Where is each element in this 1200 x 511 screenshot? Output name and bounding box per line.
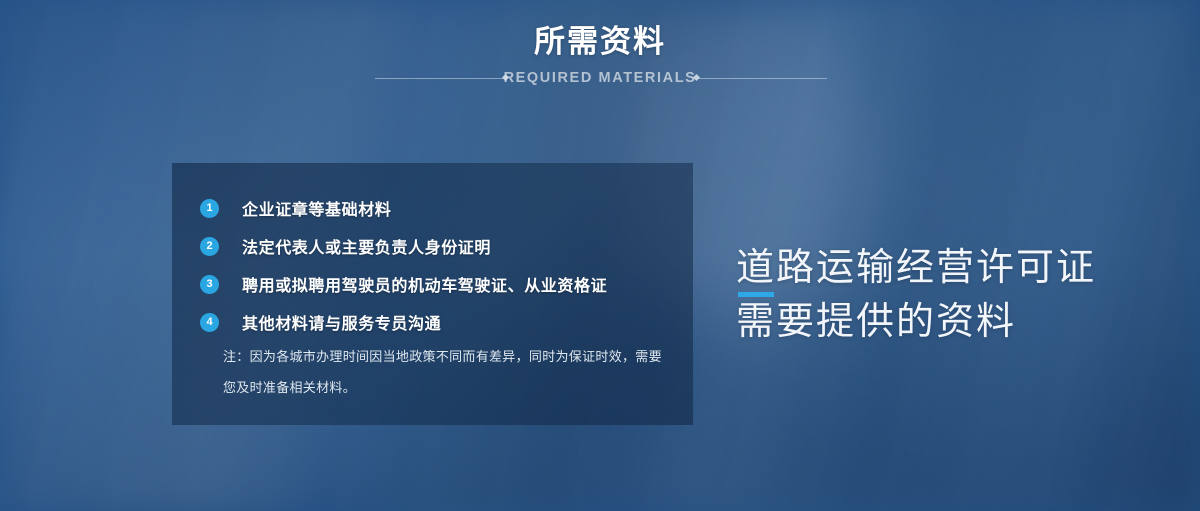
list-item-number-badge: 3 bbox=[200, 275, 219, 294]
service-headline: 道路运输经营许可证 需要提供的资料 bbox=[736, 245, 1096, 345]
service-headline-line-2: 需要提供的资料 bbox=[736, 299, 1096, 345]
list-item: 2 法定代表人或主要负责人身份证明 bbox=[200, 229, 675, 263]
headline-accent-bar bbox=[738, 292, 774, 297]
section-header: 所需资料 REQUIRED MATERIALS bbox=[0, 26, 1200, 88]
list-item-label: 聘用或拟聘用驾驶员的机动车驾驶证、从业资格证 bbox=[242, 272, 607, 296]
section-title: 所需资料 bbox=[0, 26, 1200, 59]
list-item-label: 法定代表人或主要负责人身份证明 bbox=[242, 234, 491, 258]
section-subtitle-row: REQUIRED MATERIALS bbox=[0, 68, 1200, 88]
list-item: 1 企业证章等基础材料 bbox=[200, 191, 675, 225]
list-item-label: 其他材料请与服务专员沟通 bbox=[242, 310, 441, 334]
required-materials-banner: 所需资料 REQUIRED MATERIALS 1 企业证章等基础材料 2 法定… bbox=[0, 0, 1200, 511]
list-item-label: 企业证章等基础材料 bbox=[242, 196, 391, 220]
section-subtitle: REQUIRED MATERIALS bbox=[0, 68, 1200, 88]
materials-list: 1 企业证章等基础材料 2 法定代表人或主要负责人身份证明 3 聘用或拟聘用驾驶… bbox=[200, 191, 675, 343]
list-item: 4 其他材料请与服务专员沟通 bbox=[200, 305, 675, 339]
list-item-number-badge: 2 bbox=[200, 237, 219, 256]
decorative-line-right bbox=[697, 78, 827, 79]
list-item-number-badge: 4 bbox=[200, 313, 219, 332]
service-headline-line-1: 道路运输经营许可证 bbox=[736, 245, 1096, 291]
materials-note: 注：因为各城市办理时间因当地政策不同而有差异，同时为保证时效，需要您及时准备相关… bbox=[223, 341, 675, 403]
list-item: 3 聘用或拟聘用驾驶员的机动车驾驶证、从业资格证 bbox=[200, 267, 675, 301]
decorative-line-left bbox=[375, 78, 505, 79]
materials-panel: 1 企业证章等基础材料 2 法定代表人或主要负责人身份证明 3 聘用或拟聘用驾驶… bbox=[172, 163, 693, 425]
list-item-number-badge: 1 bbox=[200, 199, 219, 218]
